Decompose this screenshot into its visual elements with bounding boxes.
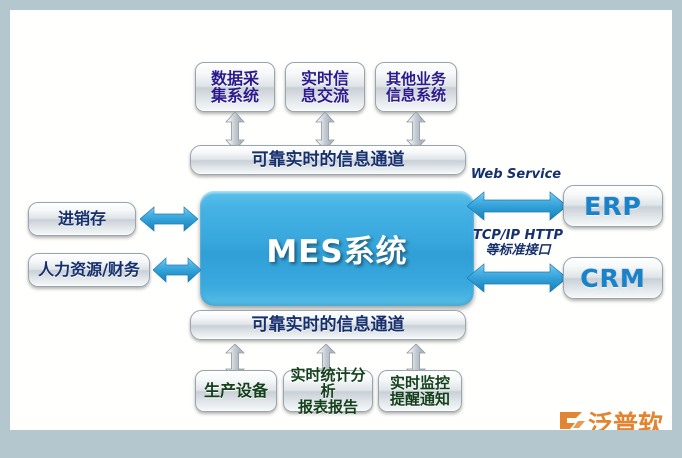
node-label: 人力资源/财务: [38, 261, 140, 278]
node-crm[interactable]: CRM: [563, 257, 663, 299]
bar-label: 可靠实时的信息通道: [252, 316, 405, 334]
arrow-left-right-hr-finance: [153, 257, 201, 283]
watermark-logo: 泛普软件 www.fanpusoft.com: [558, 406, 672, 430]
node-hr-finance[interactable]: 人力资源/财务: [28, 253, 150, 287]
arrow-left-right-inventory: [140, 206, 198, 232]
label-protocol-tcpip-http: TCP/IP HTTP 等标准接口: [462, 229, 574, 259]
node-label: MES系统: [266, 226, 407, 271]
diagram-inner-canvas: 数据采 集系统 实时信 息交流 其他业务 信息系统 可靠实时的信息通道 MES系…: [10, 10, 672, 430]
bar-label: 可靠实时的信息通道: [252, 151, 405, 169]
node-label: 实时监控 提醒通知: [390, 375, 450, 407]
bar-bottom-information-channel[interactable]: 可靠实时的信息通道: [190, 310, 466, 340]
node-mes-system[interactable]: MES系统: [200, 191, 474, 306]
node-realtime-statistics-reports[interactable]: 实时统计分析 报表报告: [283, 370, 373, 412]
arrow-left-right-crm: [467, 263, 567, 293]
node-label: 实时统计分析 报表报告: [284, 367, 372, 416]
arrow-left-right-erp: [467, 191, 567, 221]
node-label: 数据采 集系统: [211, 70, 259, 105]
node-label: ERP: [584, 193, 642, 220]
node-label: 其他业务 信息系统: [386, 71, 446, 103]
node-data-collection-system[interactable]: 数据采 集系统: [195, 62, 275, 112]
node-production-equipment[interactable]: 生产设备: [195, 370, 277, 412]
diagram-canvas: 数据采 集系统 实时信 息交流 其他业务 信息系统 可靠实时的信息通道 MES系…: [0, 0, 682, 458]
node-label: 生产设备: [204, 382, 268, 399]
fanpu-logo-icon: [558, 408, 586, 430]
node-realtime-monitoring-alerts[interactable]: 实时监控 提醒通知: [378, 370, 462, 412]
bar-top-information-channel[interactable]: 可靠实时的信息通道: [190, 145, 466, 175]
label-protocol-web-service: Web Service: [462, 168, 570, 183]
brand-name: 泛普软件: [588, 405, 672, 430]
node-label: 实时信 息交流: [301, 70, 349, 105]
node-inventory-management[interactable]: 进销存: [28, 202, 136, 236]
node-other-business-information-system[interactable]: 其他业务 信息系统: [375, 62, 457, 112]
node-erp[interactable]: ERP: [563, 185, 663, 227]
node-label: CRM: [580, 265, 645, 292]
node-label: 进销存: [58, 210, 106, 227]
node-realtime-information-exchange[interactable]: 实时信 息交流: [285, 62, 365, 112]
